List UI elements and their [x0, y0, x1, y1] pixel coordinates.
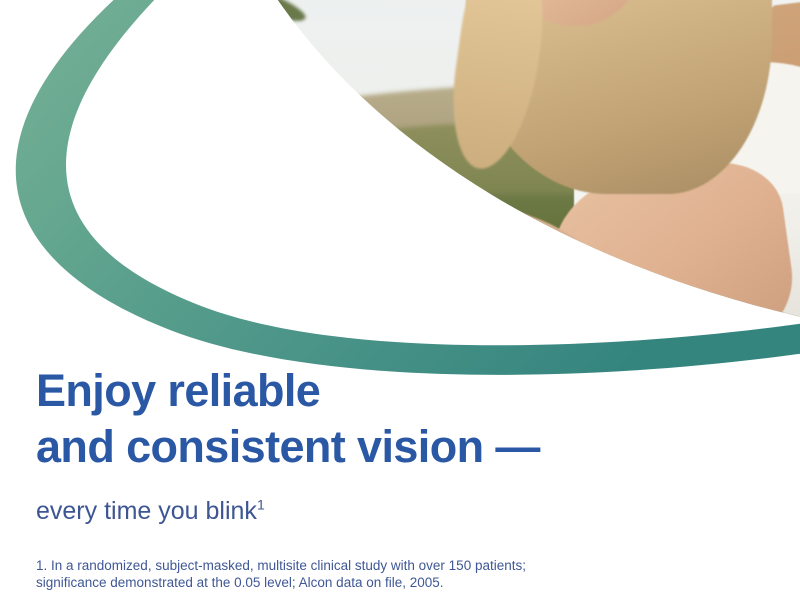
headline-line-2: and consistent vision —	[36, 419, 736, 475]
footnote-line-1: 1. In a randomized, subject-masked, mult…	[36, 557, 756, 574]
hero-photo	[196, 0, 800, 350]
footnote-marker: 1	[257, 497, 265, 513]
subheading: every time you blink1	[36, 495, 265, 527]
footnote: 1. In a randomized, subject-masked, mult…	[36, 557, 756, 591]
headline-line-1: Enjoy reliable	[36, 363, 736, 419]
headline: Enjoy reliable and consistent vision —	[36, 363, 736, 475]
photo-conifer-branch	[196, 0, 376, 110]
hero-photo-scene	[196, 0, 800, 350]
promo-banner: Enjoy reliable and consistent vision — e…	[0, 0, 800, 600]
subheading-text: every time you blink	[36, 497, 257, 525]
hero-photo-ellipse-mask	[196, 0, 800, 350]
footnote-line-2: significance demonstrated at the 0.05 le…	[36, 574, 756, 591]
